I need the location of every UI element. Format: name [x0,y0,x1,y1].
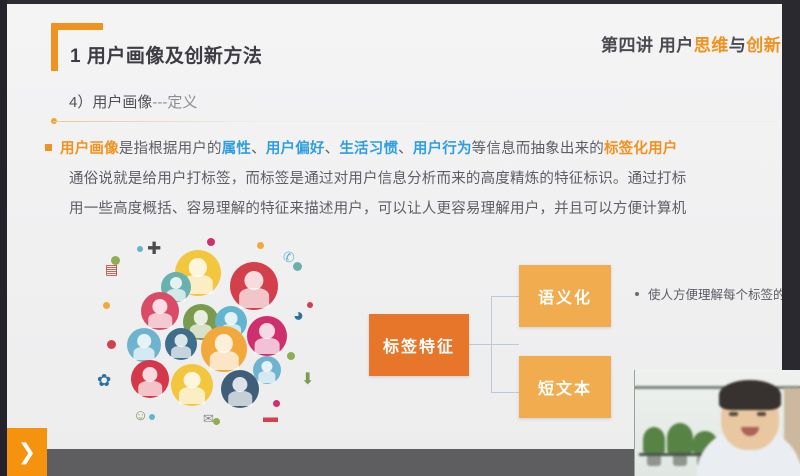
section-divider [53,121,779,122]
decor-dot [257,242,264,249]
decor-dot [207,238,215,246]
diagram-node-tag-feature: 标签特征 [369,314,469,376]
calendar-icon: ▤ [105,262,118,276]
body-line-3: 用一些高度概括、容易理解的特征来描述用户，可以让人更容易理解用户，并且可以方便计… [45,194,782,224]
slide-title: 1 用户画像及创新方法 [70,41,262,68]
avatar [171,364,213,406]
window-left-border [0,0,7,476]
next-slide-button[interactable]: ❯ [7,428,47,476]
download-icon: ⬇ [301,372,314,388]
avatar [201,326,247,372]
diagram-node-short-text: 短文本 [519,356,611,418]
body-term-tagged-user: 标签化用户 [604,141,678,157]
section-subheading: 4）用户画像---定义 [69,91,197,112]
square-bullet-icon [45,144,52,151]
avatar [131,360,169,398]
decor-dot [103,302,110,309]
chevron-right-icon: ❯ [18,441,36,463]
presenter-webcam-video[interactable] [634,370,800,476]
decor-dot [137,246,143,252]
clock-icon: ◕ [293,306,304,324]
avatar [127,328,161,362]
avatar [165,328,197,360]
plus-icon: ✚ [147,240,161,257]
lecture-header: 第四讲 用户思维与创新 [601,31,781,56]
section-subheading-suffix: ---定义 [152,94,197,111]
body-term-habit: 生活习惯 [339,141,398,157]
decor-dot [213,418,220,425]
right-bullet-1: 使人方便理解每个标签的 [635,284,782,303]
connector-line [469,344,519,345]
body-sep-2: 、 [325,141,340,157]
decor-dot [287,352,295,360]
connector-line [491,392,519,393]
body-text-1b: 是指根据用户的 [119,141,222,157]
decor-dot [307,302,313,308]
lecture-header-mid: 与 [729,36,747,55]
body-sep-3: 、 [398,141,413,157]
avatar [230,262,278,310]
avatar [247,316,287,356]
body-term-attribute: 属性 [222,141,251,157]
body-sep-1: 、 [251,141,266,157]
diagram-node-semantic: 语义化 [519,265,611,327]
emoji-icon: ☺ [133,408,148,423]
screen-capture: 1 用户画像及创新方法 第四讲 用户思维与创新 4）用户画像---定义 用户画像… [0,0,800,476]
avatar [253,356,281,384]
lecture-header-highlight-2: 创新 [746,36,781,55]
body-line-1: 用户画像是指根据用户的属性、用户偏好、生活习惯、用户行为等信息而抽象出来的标签化… [45,134,782,164]
section-subheading-main: 4）用户画像 [69,94,152,111]
lecture-header-highlight-1: 思维 [694,36,729,55]
connector-line [491,296,519,297]
webcam-blur-overlay [635,370,800,476]
mail-icon: ✉ [203,412,214,425]
connector-line [491,296,492,392]
decor-dot [107,340,116,349]
body-line-2: 通俗说就是给用户打标签，而标签是通过对用户信息分析而来的高度精炼的特征标识。通过… [45,164,782,194]
chat-bubble-icon: ▬ [263,410,278,425]
body-term-behavior: 用户行为 [413,141,472,157]
phone-icon: ✆ [283,250,295,264]
gear-icon: ✿ [97,372,111,389]
lecture-header-prefix: 第四讲 用户 [601,36,694,55]
body-text-1j: 等信息而抽象出来的 [472,141,604,157]
decor-dot [149,414,155,420]
body-term-persona: 用户画像 [60,141,119,157]
avatar [141,292,179,330]
decor-dot [273,400,280,407]
body-text-block: 用户画像是指根据用户的属性、用户偏好、生活习惯、用户行为等信息而抽象出来的标签化… [45,134,782,224]
user-persona-illustration: ✚ ▤ ✆ ◕ ✿ ⬇ ▬ ✉ ☺ [97,232,367,432]
body-term-preference: 用户偏好 [266,141,325,157]
